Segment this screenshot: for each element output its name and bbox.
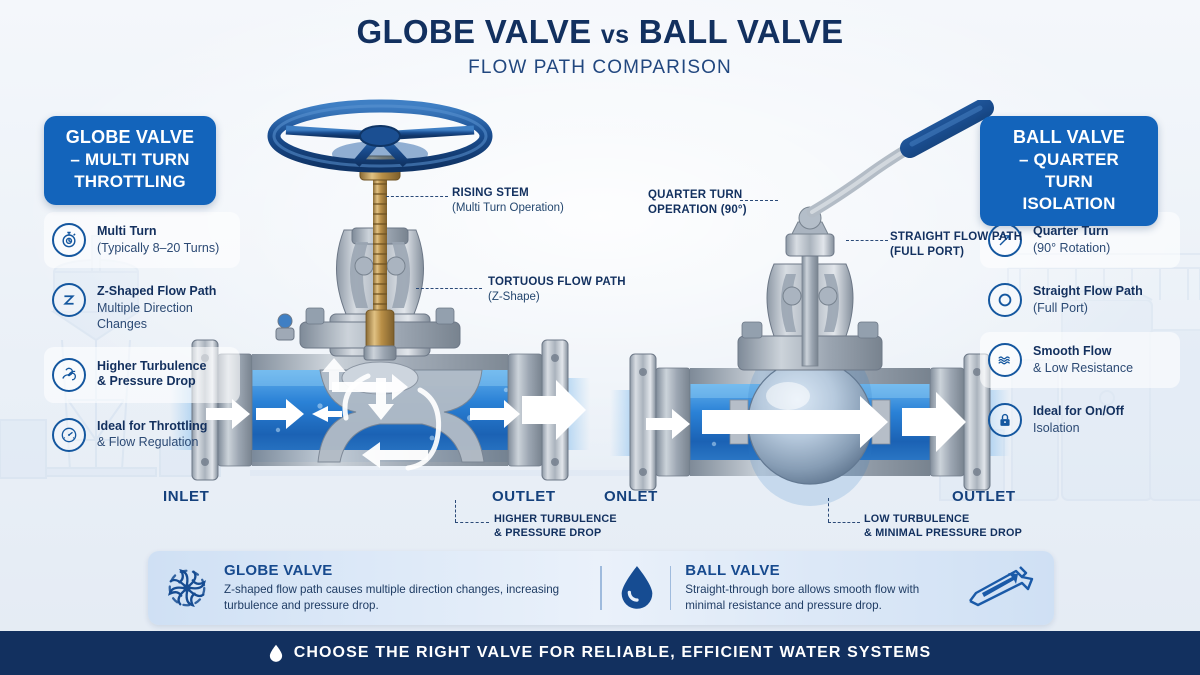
turbulence-swirl-icon [52,358,86,392]
feature-title: Quarter Turn [1033,224,1110,240]
feature-sub: Multiple Direction Changes [97,300,216,332]
badge-ball-line3: ISOLATION [994,193,1144,215]
feature-item-smooth-flow: Smooth Flow & Low Resistance [980,332,1180,388]
feature-sub: & Pressure Drop [97,374,207,390]
ball-lever-handle [812,108,984,212]
feature-item-higher-turbulence: Higher Turbulence & Pressure Drop [44,347,240,403]
feature-item-multi-turn: Multi Turn (Typically 8–20 Turns) [44,212,240,268]
feature-title: Ideal for On/Off [1033,404,1124,420]
feature-sub: (Full Port) [1033,300,1143,316]
page-title: GLOBE VALVE vs BALL VALVE [0,14,1200,50]
feature-item-ideal-for-on-off: Ideal for On/Off Isolation [980,392,1180,448]
callout-line2: OPERATION (90°) [648,203,747,218]
ball-valve-cutaway-illustration [610,100,1010,510]
callout-line2: (Multi Turn Operation) [452,201,564,216]
callout-line1: TORTUOUS FLOW PATH [488,275,626,290]
title-vs: vs [601,21,629,49]
summary-ball-heading: BALL VALVE [685,562,950,579]
banner-text: CHOOSE THE RIGHT VALVE FOR RELIABLE, EFF… [294,644,932,662]
full-port-ring-icon [988,283,1022,317]
leader-line-higher-turbulence [455,522,489,523]
leader-line-rising-stem [386,196,448,197]
callout-line1: RISING STEM [452,186,564,201]
page-subtitle: FLOW PATH COMPARISON [0,57,1200,79]
badge-ball-line1: BALL VALVE [994,126,1144,149]
feature-sub: & Flow Regulation [97,434,207,450]
callout-line2: & MINIMAL PRESSURE DROP [864,526,1022,540]
callout-tortuous-flow-path: TORTUOUS FLOW PATH (Z-Shape) [488,275,626,305]
straight-arrow-pipe-icon [964,563,1038,614]
callout-higher-turbulence: HIGHER TURBULENCE & PRESSURE DROP [494,512,617,541]
label-ball-outlet: OUTLET [952,488,1016,505]
callout-low-turbulence: LOW TURBULENCE & MINIMAL PRESSURE DROP [864,512,1022,541]
feature-sub: (90° Rotation) [1033,240,1110,256]
feature-title: Multi Turn [97,224,219,240]
summary-globe-valve: GLOBE VALVE Z-shaped flow path causes mu… [148,562,600,614]
feature-title: Higher Turbulence [97,359,207,375]
leader-line-straight-path [846,240,888,241]
summary-ball-valve: BALL VALVE Straight-through bore allows … [602,562,1054,614]
callout-line2: & PRESSURE DROP [494,526,617,540]
feature-title: Straight Flow Path [1033,284,1143,300]
callout-line1: HIGHER TURBULENCE [494,512,617,526]
title-globe: GLOBE VALVE [357,13,592,50]
z-path-icon [52,283,86,317]
water-drop-icon [269,644,283,663]
leader-line-low-turbulence-v [828,498,829,522]
badge-globe-line3: THROTTLING [58,171,202,193]
gauge-throttle-icon [52,418,86,452]
summary-inner-divider [670,566,672,610]
feature-sub: & Low Resistance [1033,360,1133,376]
header: GLOBE VALVE vs BALL VALVE FLOW PATH COMP… [0,14,1200,79]
padlock-isolation-icon [988,403,1022,437]
summary-ball-text: Straight-through bore allows smooth flow… [685,582,950,614]
bottom-banner: CHOOSE THE RIGHT VALVE FOR RELIABLE, EFF… [0,631,1200,675]
leader-line-higher-turbulence-v [455,500,456,522]
callout-line2: (FULL PORT) [890,245,1022,260]
callout-rising-stem: RISING STEM (Multi Turn Operation) [452,186,564,216]
feature-sub: (Typically 8–20 Turns) [97,240,219,256]
feature-item-ideal-for-throttling: Ideal for Throttling & Flow Regulation [44,407,240,463]
callout-line1: STRAIGHT FLOW PATH [890,230,1022,245]
label-globe-outlet: OUTLET [492,488,556,505]
infographic-page: GLOBE VALVE vs BALL VALVE FLOW PATH COMP… [0,0,1200,675]
smooth-waves-icon [988,343,1022,377]
feature-list-globe: Multi Turn (Typically 8–20 Turns) Z-Shap… [44,212,240,467]
summary-panel: GLOBE VALVE Z-shaped flow path causes mu… [148,551,1054,625]
feature-title: Ideal for Throttling [97,419,207,435]
stopwatch-multi-turn-icon [52,223,86,257]
summary-globe-heading: GLOBE VALVE [224,562,584,579]
title-ball: BALL VALVE [639,13,844,50]
feature-title: Z-Shaped Flow Path [97,284,216,300]
badge-globe-valve: GLOBE VALVE – MULTI TURN THROTTLING [44,116,216,205]
callout-line2: (Z-Shape) [488,290,626,305]
feature-item-straight-flow-path: Straight Flow Path (Full Port) [980,272,1180,328]
badge-ball-line2: – QUARTER TURN [994,149,1144,193]
callout-line1: QUARTER TURN [648,188,747,203]
summary-globe-text: Z-shaped flow path causes multiple direc… [224,582,584,614]
badge-globe-line2: – MULTI TURN [58,149,202,171]
impeller-swirl-icon [164,565,210,611]
feature-item-z-shaped-flow-path: Z-Shaped Flow Path Multiple Direction Ch… [44,272,240,343]
badge-globe-line1: GLOBE VALVE [58,126,202,149]
callout-line1: LOW TURBULENCE [864,512,1022,526]
feature-title: Smooth Flow [1033,344,1133,360]
water-drop-icon [618,565,656,611]
leader-line-tortuous-path [416,288,482,289]
badge-ball-valve: BALL VALVE – QUARTER TURN ISOLATION [980,116,1158,226]
callout-quarter-turn-operation: QUARTER TURN OPERATION (90°) [648,188,747,218]
callout-straight-flow-path: STRAIGHT FLOW PATH (FULL PORT) [890,230,1022,260]
label-ball-inlet: ONLET [604,488,658,505]
leader-line-low-turbulence [828,522,860,523]
label-globe-inlet: INLET [163,488,209,505]
feature-sub: Isolation [1033,420,1124,436]
